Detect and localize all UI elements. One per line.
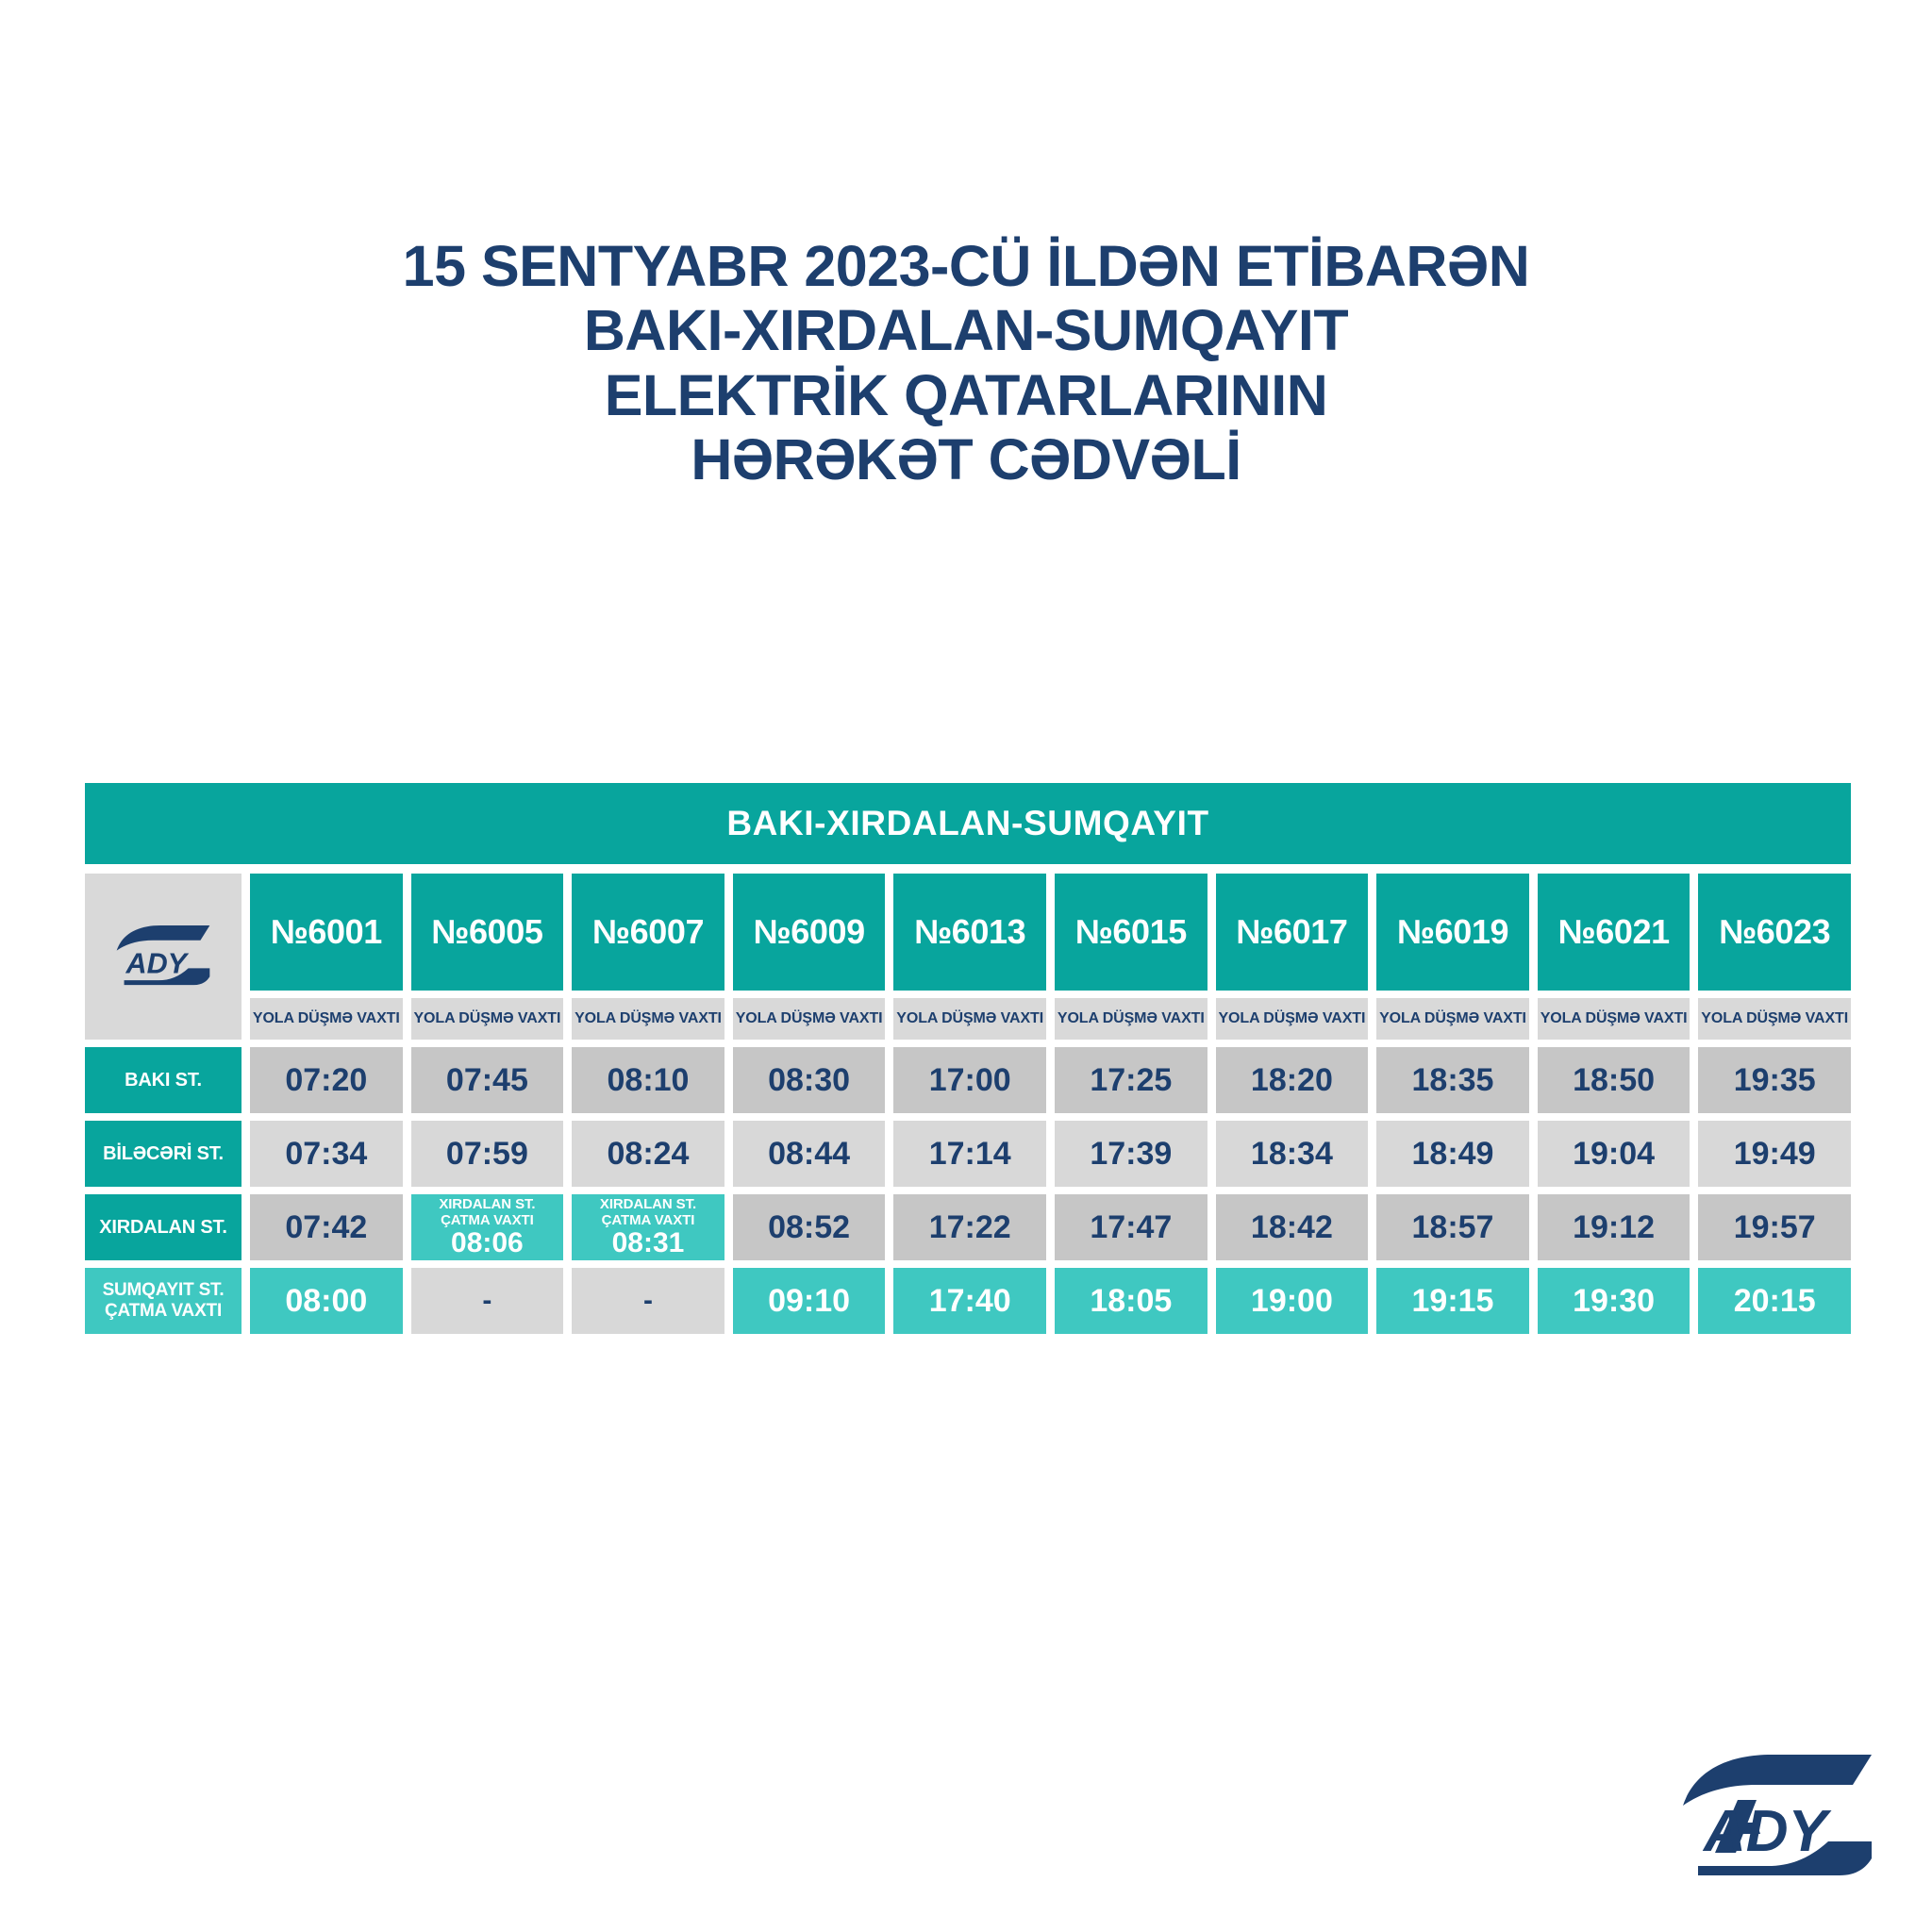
cell-time: 08:44 [768,1136,850,1173]
subheader-label: YOLA DÜŞMƏ VAXTI [253,1010,400,1027]
schedule-grid: ADY№6001№6005№6007№6009№6013№6015№6017№6… [85,874,1851,1334]
cell-time: 18:49 [1412,1136,1494,1173]
cell-time: 17:39 [1090,1136,1172,1173]
table-cell[interactable]: XIRDALAN ST.ÇATMA VAXTI08:06 [411,1194,564,1260]
cell-time: 19:35 [1734,1062,1816,1099]
depart-time-subheader-9: YOLA DÜŞMƏ VAXTI [1698,998,1851,1040]
subheader-label: YOLA DÜŞMƏ VAXTI [1541,1010,1688,1027]
table-cell[interactable]: 08:44 [733,1121,886,1187]
cell-time: 17:47 [1090,1209,1172,1246]
table-cell[interactable]: 19:30 [1538,1268,1690,1334]
train-header-0[interactable]: №6001 [250,874,403,991]
train-header-9[interactable]: №6023 [1698,874,1851,991]
cell-time: 19:49 [1734,1136,1816,1173]
subheader-label: YOLA DÜŞMƏ VAXTI [1058,1010,1205,1027]
station-name: SUMQAYIT ST. [103,1280,225,1301]
table-cell[interactable]: 07:45 [411,1047,564,1113]
table-cell[interactable]: 08:24 [572,1121,724,1187]
table-cell[interactable]: - [411,1268,564,1334]
cell-time: 07:42 [285,1209,367,1246]
table-cell[interactable]: 19:49 [1698,1121,1851,1187]
route-banner-label: BAKI-XIRDALAN-SUMQAYIT [726,804,1208,843]
depart-time-subheader-5: YOLA DÜŞMƏ VAXTI [1055,998,1207,1040]
train-header-4[interactable]: №6013 [893,874,1046,991]
ady-logo-cell: ADY [85,874,241,1040]
table-cell[interactable]: 08:10 [572,1047,724,1113]
train-number-label: №6005 [431,912,542,952]
train-header-2[interactable]: №6007 [572,874,724,991]
cell-time: 18:57 [1412,1209,1494,1246]
cell-time: 19:12 [1573,1209,1655,1246]
cell-time: 18:20 [1251,1062,1333,1099]
schedule-table: BAKI-XIRDALAN-SUMQAYIT ADY№6001№6005№600… [85,783,1851,1334]
train-header-7[interactable]: №6019 [1376,874,1529,991]
cell-time: 18:50 [1573,1062,1655,1099]
svg-text:ADY: ADY [1702,1799,1833,1864]
train-number-label: №6023 [1719,912,1830,952]
depart-time-subheader-4: YOLA DÜŞMƏ VAXTI [893,998,1046,1040]
cell-time: 07:34 [285,1136,367,1173]
table-cell[interactable]: XIRDALAN ST.ÇATMA VAXTI08:31 [572,1194,724,1260]
train-number-label: №6021 [1557,912,1669,952]
table-cell[interactable]: 17:40 [893,1268,1046,1334]
subheader-label: YOLA DÜŞMƏ VAXTI [575,1010,722,1027]
table-cell[interactable]: 17:39 [1055,1121,1207,1187]
title-line-2: BAKI-XIRDALAN-SUMQAYIT [0,298,1932,362]
cell-time: 19:57 [1734,1209,1816,1246]
train-number-label: №6019 [1397,912,1508,952]
table-cell[interactable]: 09:10 [733,1268,886,1334]
station-name: XIRDALAN ST. [99,1217,226,1239]
depart-time-subheader-7: YOLA DÜŞMƏ VAXTI [1376,998,1529,1040]
table-cell[interactable]: 17:25 [1055,1047,1207,1113]
cell-time: 07:20 [285,1062,367,1099]
station-label-2: XIRDALAN ST. [85,1194,241,1260]
subheader-label: YOLA DÜŞMƏ VAXTI [413,1010,560,1027]
table-cell[interactable]: 08:00 [250,1268,403,1334]
cell-time: 08:00 [285,1283,367,1320]
subheader-label: YOLA DÜŞMƏ VAXTI [896,1010,1043,1027]
subheader-label: YOLA DÜŞMƏ VAXTI [1701,1010,1848,1027]
table-cell[interactable]: 18:34 [1216,1121,1369,1187]
train-number-label: №6007 [592,912,704,952]
cell-time: 19:00 [1251,1283,1333,1320]
train-number-label: №6009 [753,912,864,952]
train-header-6[interactable]: №6017 [1216,874,1369,991]
cell-time: 07:45 [446,1062,528,1099]
station-label-1: BİLƏCƏRİ ST. [85,1121,241,1187]
depart-time-subheader-6: YOLA DÜŞMƏ VAXTI [1216,998,1369,1040]
table-cell[interactable]: 08:52 [733,1194,886,1260]
cell-time: 08:06 [451,1229,524,1257]
title-line-3: ELEKTRİK QATARLARININ [0,363,1932,427]
table-cell[interactable]: 17:00 [893,1047,1046,1113]
table-cell[interactable]: 07:59 [411,1121,564,1187]
cell-time: - [482,1285,491,1317]
table-cell[interactable]: 18:49 [1376,1121,1529,1187]
ady-logo-icon: ADY [1677,1747,1877,1889]
subheader-label: YOLA DÜŞMƏ VAXTI [1218,1010,1365,1027]
depart-time-subheader-1: YOLA DÜŞMƏ VAXTI [411,998,564,1040]
cell-note-label: XIRDALAN ST.ÇATMA VAXTI [600,1197,696,1229]
cell-time: 19:04 [1573,1136,1655,1173]
station-name-sub: ÇATMA VAXTI [105,1301,222,1322]
table-cell[interactable]: 18:42 [1216,1194,1369,1260]
table-cell[interactable]: 18:20 [1216,1047,1369,1113]
cell-time: 20:15 [1734,1283,1816,1320]
train-number-label: №6015 [1075,912,1187,952]
ady-logo-icon: ADY [101,922,225,991]
train-number-label: №6001 [271,912,382,952]
train-number-label: №6017 [1236,912,1347,952]
table-cell[interactable]: 17:22 [893,1194,1046,1260]
cell-time: 18:42 [1251,1209,1333,1246]
ady-footer-logo: ADY [1677,1747,1877,1889]
table-cell[interactable]: 17:14 [893,1121,1046,1187]
cell-time: 08:52 [768,1209,850,1246]
cell-time: 17:14 [929,1136,1011,1173]
cell-time: 18:05 [1090,1283,1172,1320]
table-cell[interactable]: 19:12 [1538,1194,1690,1260]
train-header-1[interactable]: №6005 [411,874,564,991]
train-header-3[interactable]: №6009 [733,874,886,991]
cell-time: 08:24 [608,1136,690,1173]
depart-time-subheader-2: YOLA DÜŞMƏ VAXTI [572,998,724,1040]
route-banner: BAKI-XIRDALAN-SUMQAYIT [85,783,1851,864]
cell-time: 17:25 [1090,1062,1172,1099]
table-cell[interactable]: 07:42 [250,1194,403,1260]
table-cell[interactable]: 18:35 [1376,1047,1529,1113]
train-header-5[interactable]: №6015 [1055,874,1207,991]
depart-time-subheader-8: YOLA DÜŞMƏ VAXTI [1538,998,1690,1040]
cell-time: 17:40 [929,1283,1011,1320]
table-cell[interactable]: 17:47 [1055,1194,1207,1260]
table-cell[interactable]: 19:04 [1538,1121,1690,1187]
depart-time-subheader-3: YOLA DÜŞMƏ VAXTI [733,998,886,1040]
table-cell[interactable]: 19:57 [1698,1194,1851,1260]
cell-note-label: XIRDALAN ST.ÇATMA VAXTI [439,1197,535,1229]
cell-time: 07:59 [446,1136,528,1173]
cell-time: 19:30 [1573,1283,1655,1320]
table-cell[interactable]: - [572,1268,724,1334]
table-cell[interactable]: 19:00 [1216,1268,1369,1334]
table-cell[interactable]: 18:50 [1538,1047,1690,1113]
cell-time: 18:35 [1412,1062,1494,1099]
title-line-1: 15 SENTYABR 2023-CÜ İLDƏN ETİBARƏN [0,234,1932,298]
title-line-4: HƏRƏKƏT CƏDVƏLİ [0,427,1932,491]
cell-time: 08:30 [768,1062,850,1099]
station-name: BAKI ST. [125,1070,202,1091]
table-cell[interactable]: 18:57 [1376,1194,1529,1260]
cell-time: 17:00 [929,1062,1011,1099]
subheader-label: YOLA DÜŞMƏ VAXTI [1379,1010,1526,1027]
cell-time: 09:10 [768,1283,850,1320]
table-cell[interactable]: 19:15 [1376,1268,1529,1334]
station-label-0: BAKI ST. [85,1047,241,1113]
depart-time-subheader-0: YOLA DÜŞMƏ VAXTI [250,998,403,1040]
cell-time: 08:31 [612,1229,685,1257]
page-title: 15 SENTYABR 2023-CÜ İLDƏN ETİBARƏN BAKI-… [0,234,1932,491]
table-cell[interactable]: 08:30 [733,1047,886,1113]
cell-time: 08:10 [608,1062,690,1099]
train-number-label: №6013 [914,912,1025,952]
table-cell[interactable]: 18:05 [1055,1268,1207,1334]
table-cell[interactable]: 07:34 [250,1121,403,1187]
cell-time: - [643,1285,653,1317]
cell-time: 17:22 [929,1209,1011,1246]
svg-text:ADY: ADY [125,947,190,979]
table-cell[interactable]: 20:15 [1698,1268,1851,1334]
station-name: BİLƏCƏRİ ST. [103,1143,224,1165]
cell-time: 19:15 [1412,1283,1494,1320]
cell-time: 18:34 [1251,1136,1333,1173]
station-label-3: SUMQAYIT ST.ÇATMA VAXTI [85,1268,241,1334]
table-cell[interactable]: 07:20 [250,1047,403,1113]
subheader-label: YOLA DÜŞMƏ VAXTI [736,1010,883,1027]
train-header-8[interactable]: №6021 [1538,874,1690,991]
table-cell[interactable]: 19:35 [1698,1047,1851,1113]
